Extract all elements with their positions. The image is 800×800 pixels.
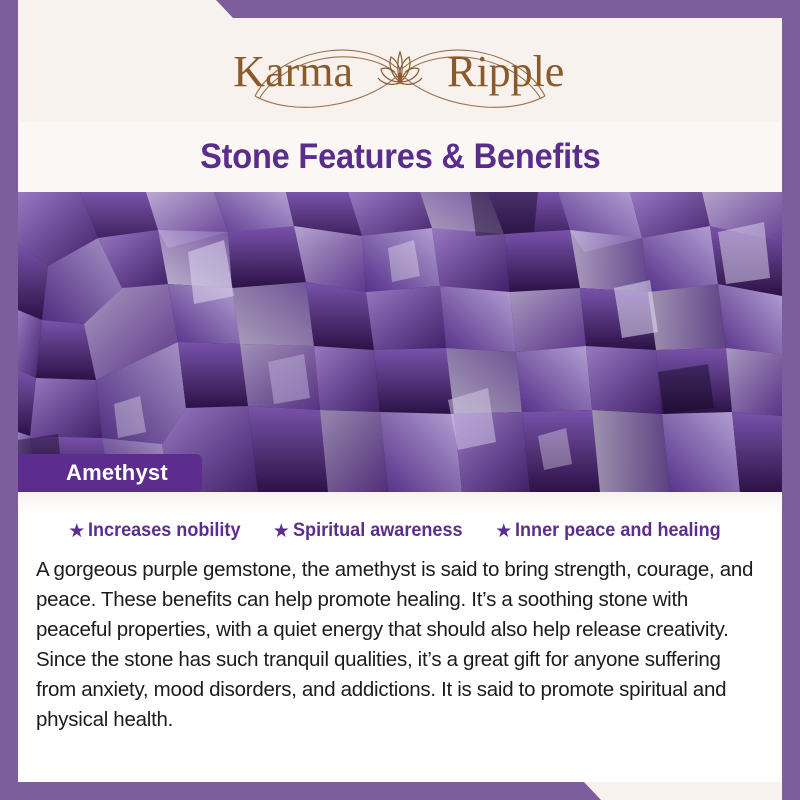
benefit-label: Spiritual awareness bbox=[293, 520, 463, 542]
brand-header: Karma Ripple bbox=[18, 18, 782, 122]
benefits-list: ★ Increases nobility ★ Spiritual awarene… bbox=[18, 492, 782, 546]
frame-border-left bbox=[0, 0, 18, 800]
benefit-label: Increases nobility bbox=[88, 520, 240, 542]
stone-name-label: Amethyst bbox=[66, 460, 168, 486]
benefit-item: ★ Inner peace and healing bbox=[495, 520, 732, 542]
star-icon: ★ bbox=[273, 522, 290, 541]
brand-name-right: Ripple bbox=[447, 47, 564, 96]
benefit-label: Inner peace and healing bbox=[515, 520, 721, 542]
poster-inner: Karma Ripple Stone Features & Benefits bbox=[18, 18, 782, 782]
benefit-item: ★ Spiritual awareness bbox=[273, 520, 472, 542]
lotus-icon: Karma Ripple bbox=[185, 26, 615, 112]
benefit-item: ★ Increases nobility bbox=[68, 520, 249, 542]
frame-border-right bbox=[782, 0, 800, 800]
amethyst-photo bbox=[18, 192, 782, 492]
star-icon: ★ bbox=[68, 522, 85, 541]
frame-border-bottom bbox=[0, 782, 800, 800]
product-infographic: Karma Ripple Stone Features & Benefits bbox=[0, 0, 800, 800]
page-title: Stone Features & Benefits bbox=[200, 137, 601, 177]
frame-border-top bbox=[0, 0, 800, 18]
star-icon: ★ bbox=[495, 522, 512, 541]
stone-description: A gorgeous purple gemstone, the amethyst… bbox=[36, 555, 764, 735]
brand-name-left: Karma bbox=[233, 47, 353, 96]
brand-logo: Karma Ripple bbox=[185, 26, 615, 112]
details-panel: ★ Increases nobility ★ Spiritual awarene… bbox=[18, 492, 782, 782]
hero-image: Amethyst bbox=[18, 192, 782, 492]
section-title-bar: Stone Features & Benefits bbox=[18, 122, 782, 192]
stone-name-tag: Amethyst bbox=[18, 454, 202, 492]
